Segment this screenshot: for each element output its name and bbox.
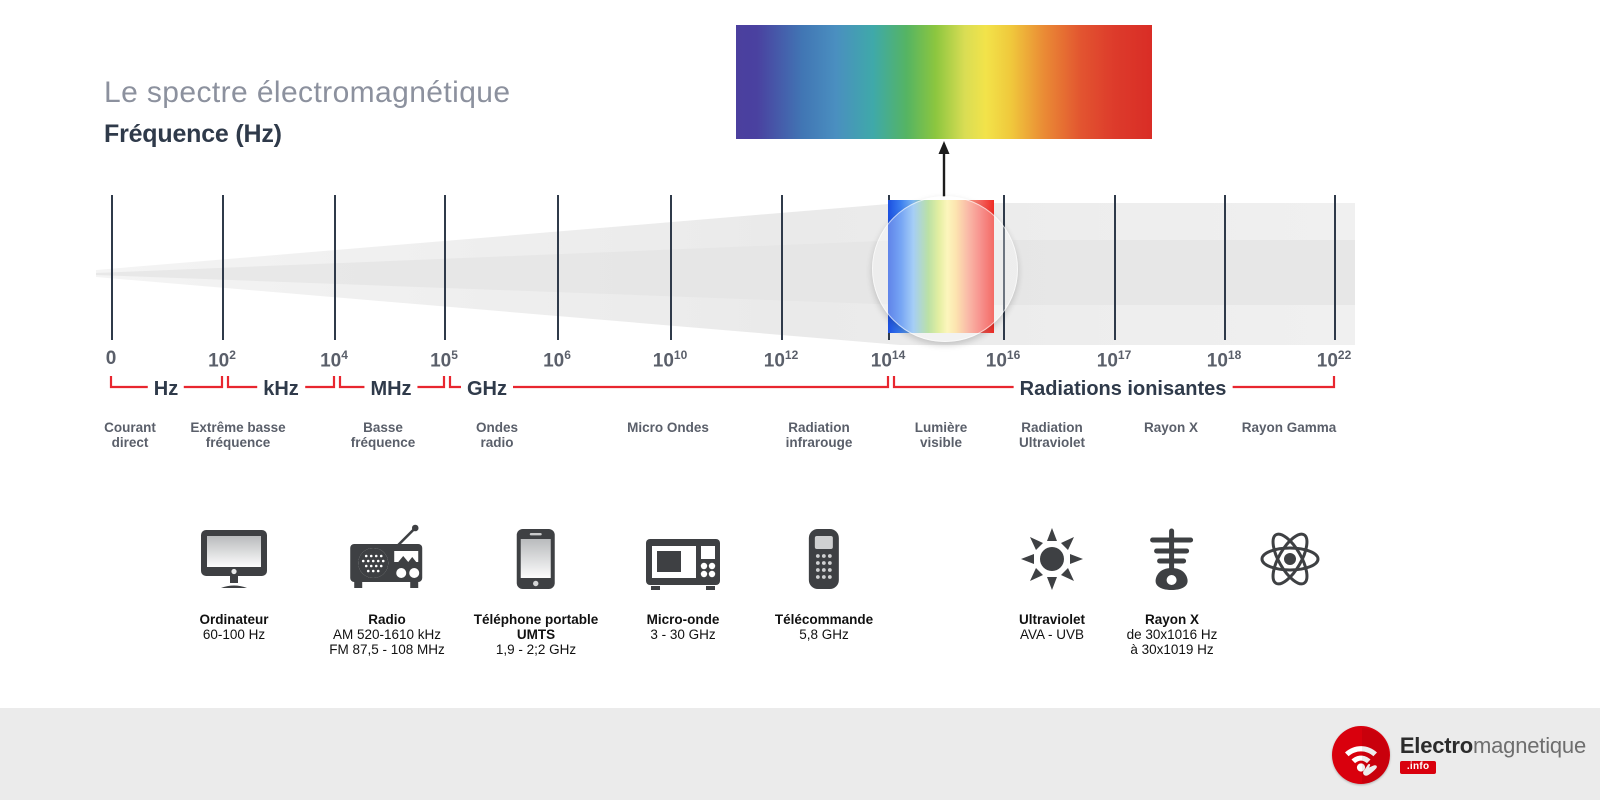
band-brackets: [0, 374, 1600, 400]
axis-tick: [1224, 195, 1226, 340]
device-item: Ordinateur60-100 Hz: [199, 510, 269, 642]
axis-tick: [111, 195, 113, 340]
category-label: Radiationinfrarouge: [786, 420, 853, 450]
microwave-icon: [645, 510, 721, 590]
device-frequency: AM 520-1610 kHzFM 87,5 - 108 MHz: [329, 627, 445, 657]
axis-tick-label: 1017: [1097, 348, 1132, 372]
axis-tick-label: 1012: [764, 348, 799, 372]
axis-tick: [557, 195, 559, 340]
category-label: Rayon Gamma: [1242, 420, 1337, 435]
device-item: Micro-onde3 - 30 GHz: [645, 510, 721, 642]
axis-tick: [670, 195, 672, 340]
page-title: Le spectre électromagnétique: [104, 76, 510, 110]
page-subtitle: Fréquence (Hz): [104, 120, 282, 149]
axis-tick-label: 1022: [1317, 348, 1352, 372]
device-item: Rayon Xde 30x1016 Hzà 30x1019 Hz: [1127, 510, 1218, 657]
axis-tick: [444, 195, 446, 340]
axis-tick-label: 1014: [871, 348, 906, 372]
logo-text-bold: Electro: [1400, 733, 1473, 758]
axis-tick-label: 106: [543, 348, 571, 372]
axis-tick: [334, 195, 336, 340]
axis-tick: [1334, 195, 1336, 340]
band-label: Radiations ionisantes: [1014, 378, 1233, 401]
radio-icon: [329, 510, 445, 590]
device-name: Téléphone portableUMTS: [474, 612, 599, 642]
logo-text-light: magnetique: [1473, 733, 1586, 758]
monitor-icon: [199, 510, 269, 590]
device-item: RadioAM 520-1610 kHzFM 87,5 - 108 MHz: [329, 510, 445, 657]
category-label: Bassefréquence: [351, 420, 416, 450]
xray-icon: [1127, 510, 1218, 590]
band-label: MHz: [364, 378, 417, 401]
logo-domain-badge: .info: [1400, 761, 1437, 774]
device-name: Rayon X: [1127, 612, 1218, 627]
device-name: Ordinateur: [199, 612, 269, 627]
infographic-canvas: Le spectre électromagnétique Fréquence (…: [0, 0, 1600, 800]
axis-tick-label: 105: [430, 348, 458, 372]
device-frequency: 5,8 GHz: [775, 627, 873, 642]
axis-tick-label: 102: [208, 348, 236, 372]
axis-tick: [1114, 195, 1116, 340]
category-label: RadiationUltraviolet: [1019, 420, 1085, 450]
category-label: Lumièrevisible: [915, 420, 968, 450]
wifi-hand-icon: [1332, 726, 1390, 784]
band-label: Hz: [148, 378, 184, 401]
site-logo[interactable]: Electromagnetique .info: [1332, 726, 1586, 784]
band-label: GHz: [461, 378, 513, 401]
category-label: Extrême bassefréquence: [190, 420, 285, 450]
smartphone-icon: [474, 510, 599, 590]
magnifier-lens: [872, 196, 1018, 342]
frequency-axis: [0, 195, 1600, 345]
category-label: Micro Ondes: [627, 420, 709, 435]
device-item: Téléphone portableUMTS1,9 - 2;2 GHz: [474, 510, 599, 657]
remote-icon: [775, 510, 873, 590]
atom-icon: [1259, 510, 1321, 590]
device-name: Télécommande: [775, 612, 873, 627]
axis-tick-label: 0: [106, 348, 117, 370]
device-item: Télécommande5,8 GHz: [775, 510, 873, 642]
device-name: Micro-onde: [645, 612, 721, 627]
axis-tick-label: 1018: [1207, 348, 1242, 372]
axis-tick-label: 1016: [986, 348, 1021, 372]
device-item: [1259, 510, 1321, 590]
visible-light-spectrum-panel: [736, 25, 1152, 139]
category-label: Courantdirect: [104, 420, 156, 450]
device-frequency: 60-100 Hz: [199, 627, 269, 642]
device-name: Ultraviolet: [1019, 612, 1085, 627]
category-label: Rayon X: [1144, 420, 1198, 435]
device-frequency: 3 - 30 GHz: [645, 627, 721, 642]
device-item: UltravioletAVA - UVB: [1019, 510, 1085, 642]
axis-tick: [222, 195, 224, 340]
device-name: Radio: [329, 612, 445, 627]
category-label: Ondesradio: [476, 420, 518, 450]
axis-tick-label: 104: [320, 348, 348, 372]
axis-tick-label: 1010: [653, 348, 688, 372]
device-frequency: 1,9 - 2;2 GHz: [474, 642, 599, 657]
footer-bar: Electromagnetique .info: [0, 708, 1600, 800]
sun-icon: [1019, 510, 1085, 590]
band-label: kHz: [257, 378, 305, 401]
device-frequency: AVA - UVB: [1019, 627, 1085, 642]
device-frequency: de 30x1016 Hzà 30x1019 Hz: [1127, 627, 1218, 657]
zoom-arrow-icon: [938, 141, 950, 197]
logo-wordmark: Electromagnetique .info: [1400, 735, 1586, 776]
axis-tick: [781, 195, 783, 340]
band-bracket: [450, 376, 888, 387]
